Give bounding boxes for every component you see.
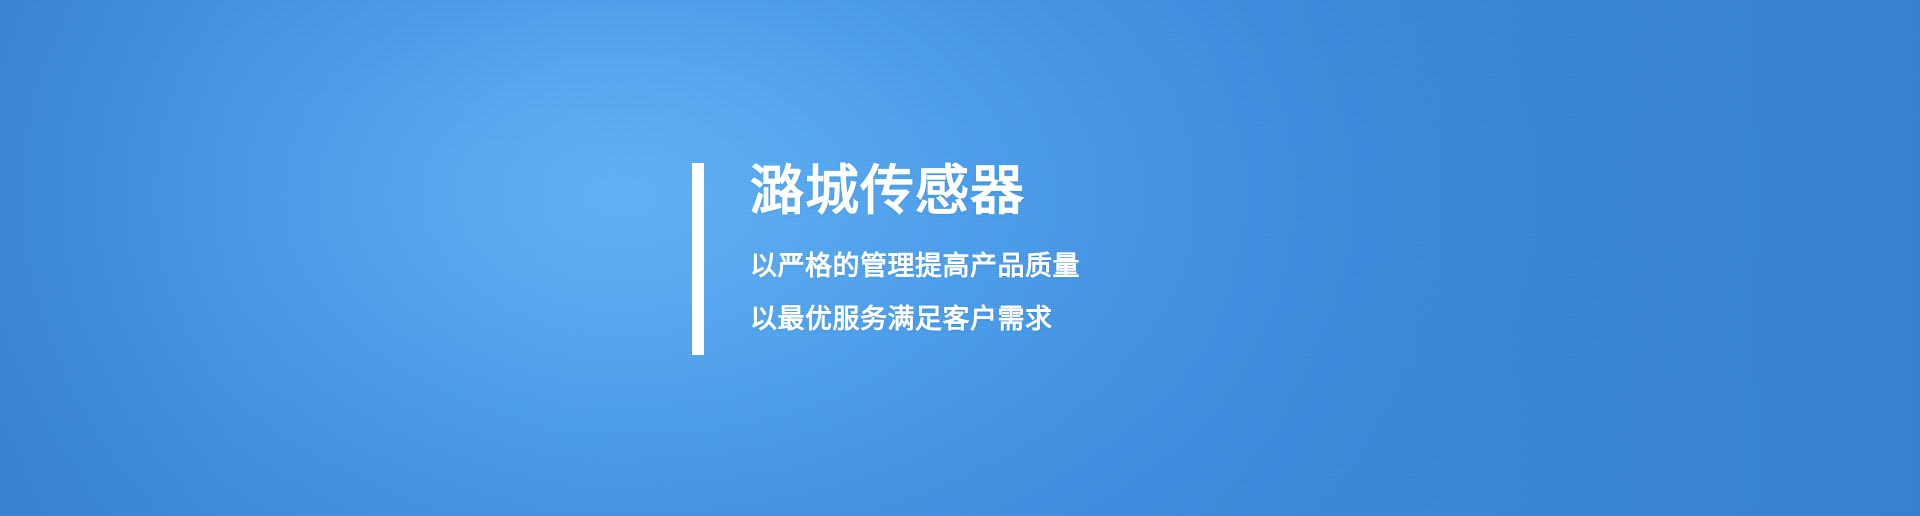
banner-subline-2: 以最优服务满足客户需求 (750, 306, 1080, 333)
hero-content: 潞城传感器 以严格的管理提高产品质量 以最优服务满足客户需求 (692, 163, 1080, 355)
hero-banner: 潞城传感器 以严格的管理提高产品质量 以最优服务满足客户需求 (0, 0, 1920, 516)
banner-title: 潞城传感器 (750, 163, 1080, 219)
accent-bar (692, 163, 704, 355)
banner-subline-1: 以严格的管理提高产品质量 (750, 253, 1080, 280)
hero-text-block: 潞城传感器 以严格的管理提高产品质量 以最优服务满足客户需求 (750, 163, 1080, 355)
